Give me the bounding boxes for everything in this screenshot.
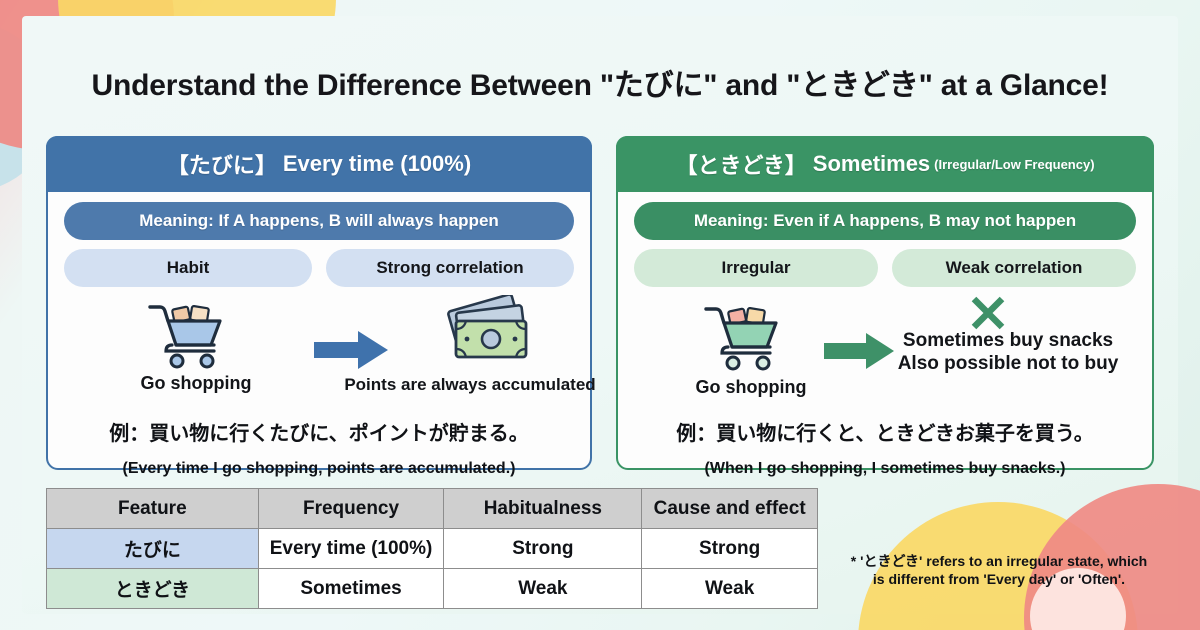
example-en-tokidoki: (When I go shopping, I sometimes buy sna…: [618, 460, 1152, 478]
infographic-canvas: Understand the Difference Between "たびに" …: [0, 0, 1200, 630]
card-tabini-tags: Habit Strong correlation: [64, 249, 574, 287]
table-cell-frequency-tokidoki: Sometimes: [258, 569, 444, 609]
card-tabini-header-jp: 【たびに】: [167, 148, 277, 180]
table-row: ときどき Sometimes Weak Weak: [47, 569, 818, 609]
table-header-habitualness: Habitualness: [444, 489, 642, 529]
card-tokidoki-header: 【ときどき】 Sometimes (Irregular/Low Frequenc…: [616, 136, 1154, 192]
table-cell-frequency-tabini: Every time (100%): [258, 529, 444, 569]
page-title: Understand the Difference Between "たびに" …: [0, 60, 1200, 104]
card-tabini-illustration: Go shopping Points are always accumulate…: [48, 293, 590, 399]
shopping-cart-blue-icon: [144, 299, 230, 376]
example-en-tabini: (Every time I go shopping, points are ac…: [48, 460, 590, 478]
table-header-cause: Cause and effect: [642, 489, 818, 529]
example-jp-tabini: 例：買い物に行くたびに、ポイントが貯まる。: [48, 417, 590, 446]
table-cell-cause-tokidoki: Weak: [642, 569, 818, 609]
card-tabini-header-en: Every time (100%): [283, 151, 471, 177]
footnote-line1: * 'ときどき' refers to an irregular state, w…: [824, 552, 1174, 570]
card-tokidoki: 【ときどき】 Sometimes (Irregular/Low Frequenc…: [616, 136, 1154, 470]
shopping-cart-green-icon: [700, 301, 786, 376]
card-tokidoki-tags: Irregular Weak correlation: [634, 249, 1136, 287]
tag-irregular: Irregular: [634, 249, 878, 287]
table-header-frequency: Frequency: [258, 489, 444, 529]
caption-snack-line1: Sometimes buy snacks: [868, 329, 1148, 352]
card-tokidoki-header-en: Sometimes: [813, 151, 930, 177]
card-tokidoki-header-jp: 【ときどき】: [675, 148, 806, 180]
card-tokidoki-meaning: Meaning: Even if A happens, B may not ha…: [634, 202, 1136, 240]
table-cell-feature-tokidoki: ときどき: [47, 569, 259, 609]
table-cell-habitualness-tokidoki: Weak: [444, 569, 642, 609]
card-tokidoki-header-sub: (Irregular/Low Frequency): [934, 157, 1094, 172]
card-tabini-meaning: Meaning: If A happens, B will always hap…: [64, 202, 574, 240]
money-bills-icon: [444, 295, 536, 370]
table-header-row: Feature Frequency Habitualness Cause and…: [47, 489, 818, 529]
card-tabini-header: 【たびに】 Every time (100%): [46, 136, 592, 192]
caption-sometimes-buy: Sometimes buy snacks Also possible not t…: [868, 329, 1148, 375]
tag-weak-correlation: Weak correlation: [892, 249, 1136, 287]
card-tokidoki-illustration: Go shopping Sometimes buy snacks Also po…: [618, 293, 1152, 399]
caption-points-accumulated: Points are always accumulated: [310, 375, 630, 395]
footnote-line2: is different from 'Every day' or 'Often'…: [824, 570, 1174, 588]
arrow-right-blue-icon: [314, 331, 388, 374]
caption-go-shopping-left: Go shopping: [106, 373, 286, 394]
tag-habit: Habit: [64, 249, 312, 287]
table-cell-cause-tabini: Strong: [642, 529, 818, 569]
card-tabini: 【たびに】 Every time (100%) Meaning: If A ha…: [46, 136, 592, 470]
caption-go-shopping-right: Go shopping: [656, 377, 846, 398]
example-jp-tokidoki: 例：買い物に行くと、ときどきお菓子を買う。: [618, 417, 1152, 446]
table-cell-habitualness-tabini: Strong: [444, 529, 642, 569]
comparison-table: Feature Frequency Habitualness Cause and…: [46, 488, 818, 609]
table-header-feature: Feature: [47, 489, 259, 529]
tag-strong-correlation: Strong correlation: [326, 249, 574, 287]
table-cell-feature-tabini: たびに: [47, 529, 259, 569]
caption-snack-line2: Also possible not to buy: [868, 352, 1148, 375]
footnote: * 'ときどき' refers to an irregular state, w…: [824, 552, 1174, 589]
table-row: たびに Every time (100%) Strong Strong: [47, 529, 818, 569]
